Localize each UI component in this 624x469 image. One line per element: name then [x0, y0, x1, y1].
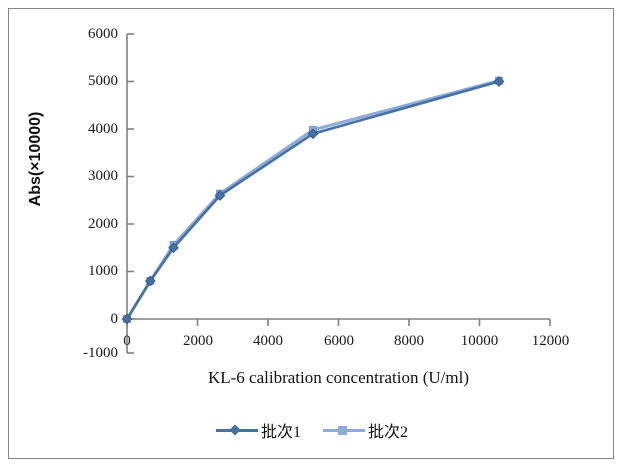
legend-item-series-2[interactable]: 批次2 [323, 418, 408, 442]
diamond-marker-icon [229, 424, 240, 435]
legend-label-series-2: 批次2 [368, 418, 408, 442]
y-tick-label-4000: 4000 [60, 122, 118, 137]
y-axis-title: Abs(×10000) [27, 79, 45, 239]
x-tick-label-6000: 6000 [313, 334, 365, 349]
legend-item-series-1[interactable]: 批次1 [216, 418, 301, 442]
chart-page: 6000 5000 4000 3000 2000 1000 0 -1000 0 … [0, 0, 624, 469]
y-tick-label-2000: 2000 [60, 217, 118, 232]
x-tick-label-12000: 12000 [519, 334, 582, 349]
legend-key-series-2 [323, 423, 365, 437]
x-tick-label-0: 0 [112, 334, 142, 349]
legend-label-series-1: 批次1 [261, 418, 301, 442]
chart-legend: 批次1 批次2 [0, 418, 624, 442]
legend-key-series-1 [216, 423, 258, 437]
y-axis [127, 34, 134, 353]
y-tick-label-1000: 1000 [60, 264, 118, 279]
x-tick-label-4000: 4000 [242, 334, 294, 349]
square-marker-icon [338, 426, 347, 435]
x-axis-title: KL-6 calibration concentration (U/ml) [127, 368, 550, 388]
x-tick-label-10000: 10000 [448, 334, 511, 349]
x-tick-label-8000: 8000 [383, 334, 435, 349]
series-2-line [124, 77, 503, 322]
x-tick-label-2000: 2000 [172, 334, 224, 349]
y-tick-label-minus-1000: -1000 [55, 346, 118, 361]
y-tick-label-0: 0 [60, 312, 118, 327]
y-tick-label-6000: 6000 [60, 27, 118, 42]
y-tick-label-3000: 3000 [60, 169, 118, 184]
y-tick-label-5000: 5000 [60, 74, 118, 89]
x-axis [127, 319, 550, 326]
plot-area [0, 0, 624, 469]
series-1-line [122, 77, 504, 324]
